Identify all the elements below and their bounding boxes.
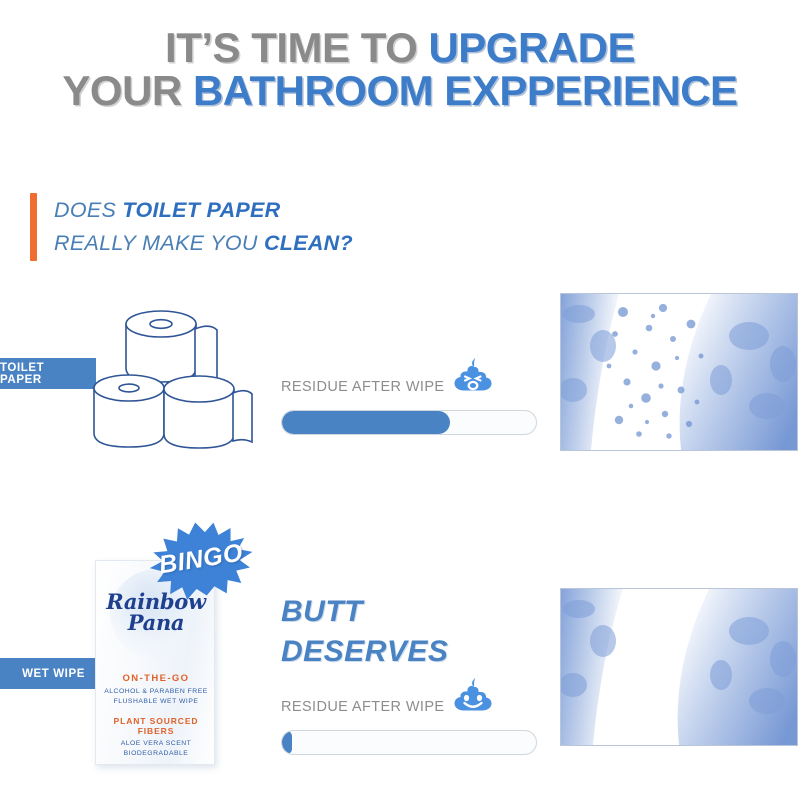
headline-line-2-grey: YOUR [62,67,193,114]
packet-sub-2-line-1: ALOE VERA SCENT [96,739,215,749]
subheading-line-2-bold: CLEAN? [264,231,353,255]
subheading-text: DOES TOILET PAPER REALLY MAKE YOU CLEAN? [54,193,353,261]
headline-line-2: YOUR BATHROOM EXPPERIENCE [0,69,800,112]
subheading-line-2-plain: REALLY MAKE YOU [54,231,264,255]
label-tab-toilet-paper: TOILET PAPER [0,358,96,389]
toilet-paper-rolls-illustration [86,296,276,466]
subheading-line-1-bold: TOILET PAPER [122,198,280,222]
packet-brand-line-2: Pana [96,612,215,633]
packet-copy-spacer [96,706,215,716]
residue-label-toilet-paper: RESIDUE AFTER WIPE [281,379,445,395]
label-tab-wet-wipe-text: WET WIPE [22,668,85,680]
residue-bar-toilet-paper-fill [282,411,450,434]
residue-meter-toilet-paper-header: RESIDUE AFTER WIPE [281,372,537,401]
residue-bar-wet-wipe [281,730,537,755]
packet-sub-1: ALCOHOL & PARABEN FREE FLUSHABLE WET WIP… [96,687,215,706]
butt-deserves-line-1: BUTT [281,592,448,632]
residue-label-wet-wipe: RESIDUE AFTER WIPE [281,699,445,715]
butt-deserves-line-2: DESERVES [281,632,448,672]
packet-headline-1: ON-THE-GO [96,673,215,684]
headline-line-1-blue: UPGRADE [428,24,635,71]
poop-unhappy-icon [453,356,493,401]
subheading-accent-bar [30,193,37,261]
poop-happy-icon [453,676,493,721]
residue-meter-wet-wipe: RESIDUE AFTER WIPE [281,692,537,755]
bingo-starburst-badge: BINGO [142,512,261,606]
bingo-badge-text: BINGO [142,512,261,606]
headline-line-2-blue: BATHROOM EXPPERIENCE [193,67,738,114]
subheading-line-2: REALLY MAKE YOU CLEAN? [54,227,353,260]
butt-deserves-heading: BUTT DESERVES [281,592,448,672]
page-headline: IT’S TIME TO UPGRADE YOUR BATHROOM EXPPE… [0,26,800,113]
subheading-line-1: DOES TOILET PAPER [54,194,353,227]
headline-line-1: IT’S TIME TO UPGRADE [0,26,800,69]
wet-wipe-packet: Rainbow Pana ON-THE-GO ALCOHOL & PARABEN… [95,560,215,765]
residue-bar-toilet-paper [281,410,537,435]
packet-sub-2: ALOE VERA SCENT BIODEGRADABLE [96,739,215,758]
subheading: DOES TOILET PAPER REALLY MAKE YOU CLEAN? [30,193,353,261]
photo-panel-dirty-surface [560,293,798,451]
label-tab-toilet-paper-text: TOILET PAPER [0,362,85,386]
packet-sub-2-line-2: BIODEGRADABLE [96,749,215,759]
packet-headline-2: PLANT SOURCED FIBERS [96,716,215,736]
packet-sub-1-line-2: FLUSHABLE WET WIPE [96,697,215,707]
residue-meter-wet-wipe-header: RESIDUE AFTER WIPE [281,692,537,721]
label-tab-wet-wipe: WET WIPE [0,658,96,689]
packet-copy: ON-THE-GO ALCOHOL & PARABEN FREE FLUSHAB… [96,673,215,759]
headline-line-1-grey: IT’S TIME TO [165,24,428,71]
subheading-line-1-plain: DOES [54,198,122,222]
photo-panel-clean-surface [560,588,798,746]
residue-meter-toilet-paper: RESIDUE AFTER WIPE [281,372,537,435]
residue-bar-wet-wipe-fill [282,731,292,754]
packet-sub-1-line-1: ALCOHOL & PARABEN FREE [96,687,215,697]
